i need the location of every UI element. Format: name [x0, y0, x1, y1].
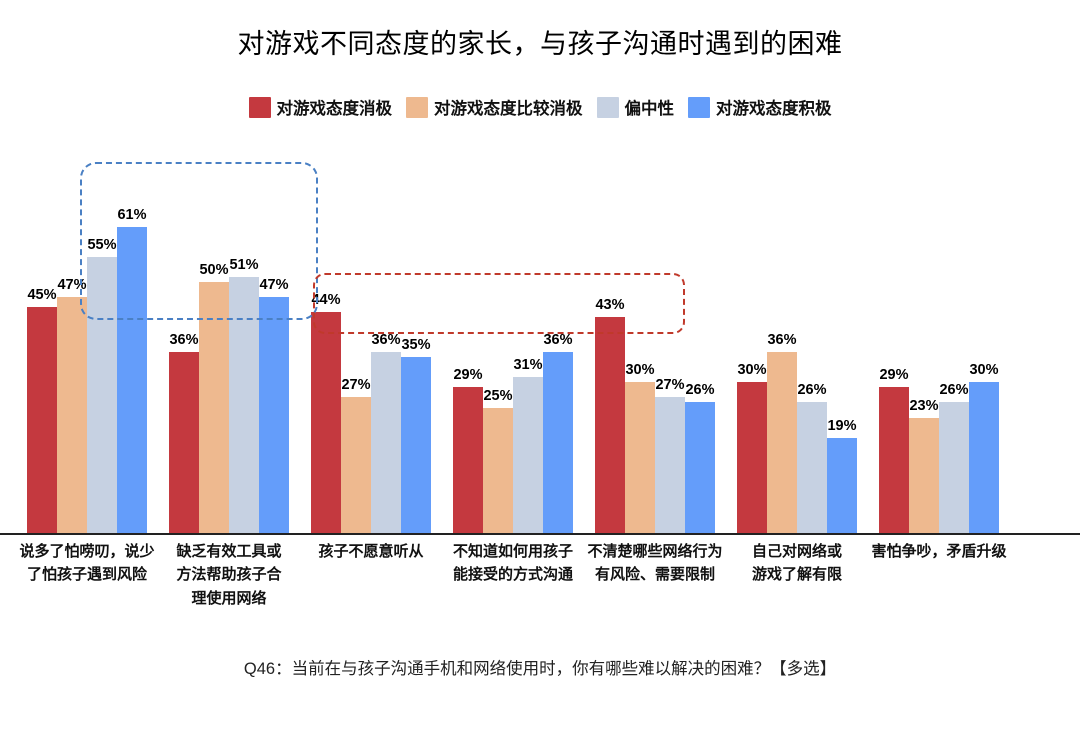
bar[interactable] [371, 352, 401, 533]
bar[interactable] [483, 408, 513, 534]
legend-item-3[interactable]: 对游戏态度积极 [688, 95, 832, 119]
bar[interactable] [57, 297, 87, 533]
bar[interactable] [453, 387, 483, 533]
category-label-line: 不清楚哪些网络行为 [575, 540, 735, 563]
bar-value-label: 19% [827, 418, 856, 434]
bar-value-label: 45% [27, 287, 56, 303]
red-highlight-box [313, 273, 685, 334]
legend-swatch-icon [406, 97, 428, 118]
bar-value-label: 26% [797, 382, 826, 398]
blue-highlight-box [80, 162, 318, 320]
bar-value-label: 29% [453, 367, 482, 383]
bar[interactable] [797, 402, 827, 533]
category-label-0: 说多了怕唠叨，说少了怕孩子遇到风险 [7, 540, 167, 587]
bar[interactable] [341, 397, 371, 533]
bar[interactable] [737, 382, 767, 533]
bar[interactable] [625, 382, 655, 533]
bar-value-label: 27% [655, 377, 684, 393]
legend-item-label: 对游戏态度消极 [277, 95, 393, 119]
category-label-line: 自己对网络或 [717, 540, 877, 563]
chart-footnote: Q46：当前在与孩子沟通手机和网络使用时，你有哪些难以解决的困难？【多选】 [0, 655, 1080, 679]
category-label-line: 游戏了解有限 [717, 563, 877, 586]
bar-value-label: 23% [909, 398, 938, 414]
bar[interactable] [169, 352, 199, 533]
bar[interactable] [969, 382, 999, 533]
bar-value-label: 36% [371, 332, 400, 348]
category-label-line: 孩子不愿意听从 [291, 540, 451, 563]
bar-value-label: 31% [513, 357, 542, 373]
category-label-line: 能接受的方式沟通 [433, 563, 593, 586]
legend-swatch-icon [688, 97, 710, 118]
category-label-line: 方法帮助孩子合 [149, 563, 309, 586]
bar-value-label: 36% [767, 332, 796, 348]
legend-item-1[interactable]: 对游戏态度比较消极 [406, 95, 583, 119]
legend-item-label: 偏中性 [625, 95, 675, 119]
category-label-line: 有风险、需要限制 [575, 563, 735, 586]
bar[interactable] [827, 438, 857, 533]
bar[interactable] [513, 377, 543, 533]
bar-value-label: 30% [737, 362, 766, 378]
category-label-2: 孩子不愿意听从 [291, 540, 451, 563]
category-label-line: 不知道如何用孩子 [433, 540, 593, 563]
bar[interactable] [595, 317, 625, 533]
bar-value-label: 27% [341, 377, 370, 393]
category-label-1: 缺乏有效工具或方法帮助孩子合理使用网络 [149, 540, 309, 610]
x-axis-line [0, 533, 1080, 535]
legend-item-2[interactable]: 偏中性 [597, 95, 675, 119]
legend-item-label: 对游戏态度比较消极 [434, 95, 583, 119]
bar-value-label: 29% [879, 367, 908, 383]
chart-plot-area: 45%47%55%61%36%50%51%47%44%27%36%35%29%2… [0, 150, 1080, 535]
bar[interactable] [767, 352, 797, 533]
category-label-3: 不知道如何用孩子能接受的方式沟通 [433, 540, 593, 587]
bar-value-label: 26% [685, 382, 714, 398]
bar[interactable] [311, 312, 341, 533]
bar-value-label: 35% [401, 337, 430, 353]
legend-item-label: 对游戏态度积极 [716, 95, 832, 119]
chart-legend: 对游戏态度消极对游戏态度比较消极偏中性对游戏态度积极 [0, 95, 1080, 119]
page-title: 对游戏不同态度的家长，与孩子沟通时遇到的困难 [0, 22, 1080, 61]
category-label-line: 理使用网络 [149, 587, 309, 610]
category-label-line: 说多了怕唠叨，说少 [7, 540, 167, 563]
legend-item-0[interactable]: 对游戏态度消极 [249, 95, 393, 119]
chart-page: 对游戏不同态度的家长，与孩子沟通时遇到的困难 对游戏态度消极对游戏态度比较消极偏… [0, 0, 1080, 730]
category-label-5: 自己对网络或游戏了解有限 [717, 540, 877, 587]
bar[interactable] [685, 402, 715, 533]
bar[interactable] [939, 402, 969, 533]
category-label-line: 害怕争吵，矛盾升级 [859, 540, 1019, 563]
category-label-6: 害怕争吵，矛盾升级 [859, 540, 1019, 563]
bar[interactable] [27, 307, 57, 533]
legend-swatch-icon [597, 97, 619, 118]
category-label-4: 不清楚哪些网络行为有风险、需要限制 [575, 540, 735, 587]
bar[interactable] [655, 397, 685, 533]
bar-value-label: 30% [625, 362, 654, 378]
bar-value-label: 36% [169, 332, 198, 348]
bar[interactable] [543, 352, 573, 533]
bar[interactable] [259, 297, 289, 533]
bar-value-label: 26% [939, 382, 968, 398]
bar-value-label: 36% [543, 332, 572, 348]
category-label-line: 缺乏有效工具或 [149, 540, 309, 563]
bar[interactable] [909, 418, 939, 533]
bar[interactable] [401, 357, 431, 533]
bar[interactable] [879, 387, 909, 533]
x-axis-category-labels: 说多了怕唠叨，说少了怕孩子遇到风险缺乏有效工具或方法帮助孩子合理使用网络孩子不愿… [0, 540, 1080, 635]
bar-value-label: 30% [969, 362, 998, 378]
category-label-line: 了怕孩子遇到风险 [7, 563, 167, 586]
bar-value-label: 25% [483, 388, 512, 404]
legend-swatch-icon [249, 97, 271, 118]
